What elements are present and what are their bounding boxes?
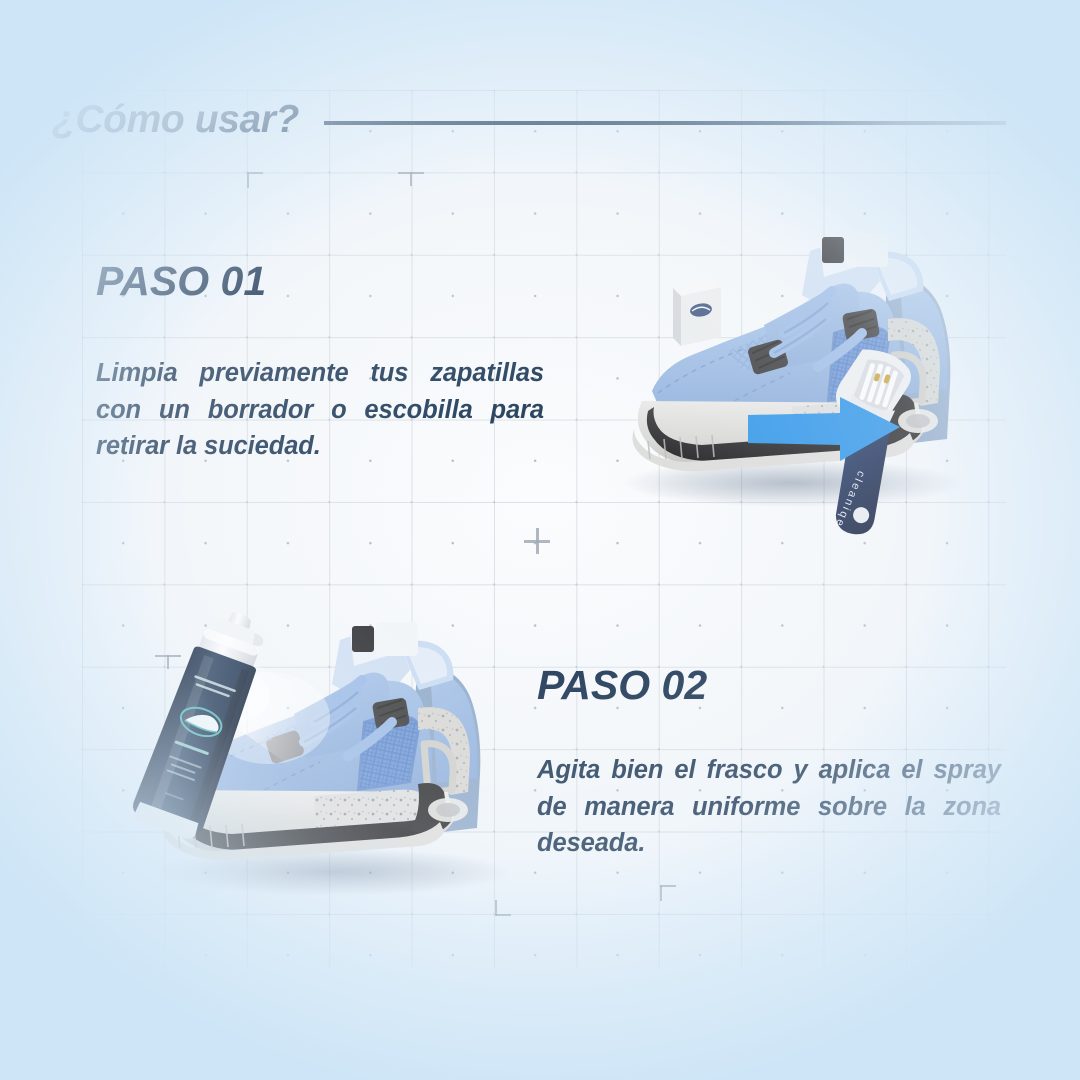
eraser-block-icon xyxy=(673,279,721,346)
step-02-body: Agita bien el frasco y aplica el spray d… xyxy=(537,752,1001,862)
step-01-body: Limpia previamente tus zapatillas con un… xyxy=(96,355,544,465)
step-01-heading: PASO 01 xyxy=(96,258,266,304)
corner-bracket-icon xyxy=(660,885,676,901)
plus-crosshair-icon xyxy=(524,528,550,554)
step-02-illustration xyxy=(118,600,538,915)
step-01-illustration: cleaniqe xyxy=(588,215,1008,530)
step-02-heading: PASO 02 xyxy=(537,662,707,708)
header: ¿Cómo usar? xyxy=(52,96,1012,148)
tee-mark-icon xyxy=(398,172,424,186)
corner-bracket-icon xyxy=(247,172,263,188)
poster-canvas: cleaniqe xyxy=(0,0,1080,1080)
title-divider xyxy=(324,121,1006,125)
page-title: ¿Cómo usar? xyxy=(52,96,299,144)
